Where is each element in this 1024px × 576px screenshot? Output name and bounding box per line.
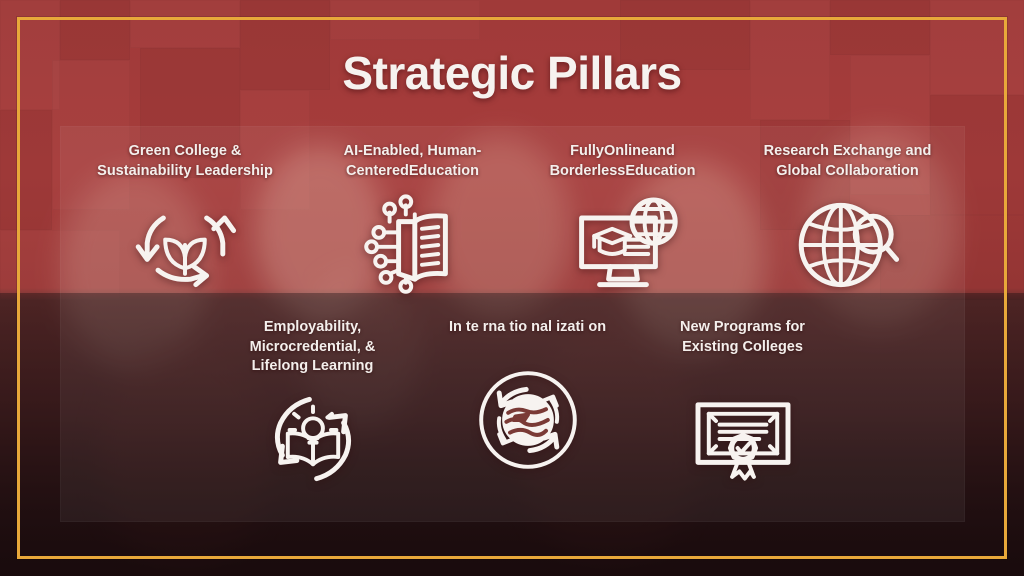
monitor-graduation-globe-icon xyxy=(567,191,679,299)
pillar-label: In te rna tio nal izati on xyxy=(445,318,610,338)
pillar-row-top: Green College & Sustainability Leadershi… xyxy=(60,142,965,299)
pillar-ai-enabled-education[interactable]: AI-Enabled, Human- CenteredEducation xyxy=(310,142,515,299)
pillar-label: AI-Enabled, Human- CenteredEducation xyxy=(340,142,486,181)
globe-rotating-arrows-icon xyxy=(472,366,584,474)
pillar-label: Research Exchange and Global Collaborati… xyxy=(760,142,936,181)
pillar-label: New Programs for Existing Colleges xyxy=(676,318,809,357)
pillar-internationalization[interactable]: In te rna tio nal izati on xyxy=(420,318,635,493)
certificate-seal-icon xyxy=(687,385,799,493)
pillar-new-programs[interactable]: New Programs for Existing Colleges xyxy=(635,318,850,493)
pillar-fully-online-education[interactable]: FullyOnlineand BorderlessEducation xyxy=(515,142,730,299)
page-title: Strategic Pillars xyxy=(0,46,1024,100)
circuit-book-icon xyxy=(357,191,469,299)
pillar-label: Green College & Sustainability Leadershi… xyxy=(93,142,277,181)
pillar-green-college[interactable]: Green College & Sustainability Leadershi… xyxy=(60,142,310,299)
pillar-employability-lifelong-learning[interactable]: Employability, Microcredential, & Lifelo… xyxy=(205,318,420,493)
content-panel: Green College & Sustainability Leadershi… xyxy=(60,126,965,522)
book-lightbulb-arrows-icon xyxy=(257,385,369,493)
pillar-research-exchange[interactable]: Research Exchange and Global Collaborati… xyxy=(730,142,965,299)
pillar-label: Employability, Microcredential, & Lifelo… xyxy=(246,318,380,377)
globe-magnifier-icon xyxy=(792,191,904,299)
slide: Strategic Pillars Green College & Sustai… xyxy=(0,0,1024,576)
pillar-row-bottom: Employability, Microcredential, & Lifelo… xyxy=(60,318,965,493)
pillar-label: FullyOnlineand BorderlessEducation xyxy=(546,142,700,181)
recycle-leaves-icon xyxy=(129,191,241,299)
